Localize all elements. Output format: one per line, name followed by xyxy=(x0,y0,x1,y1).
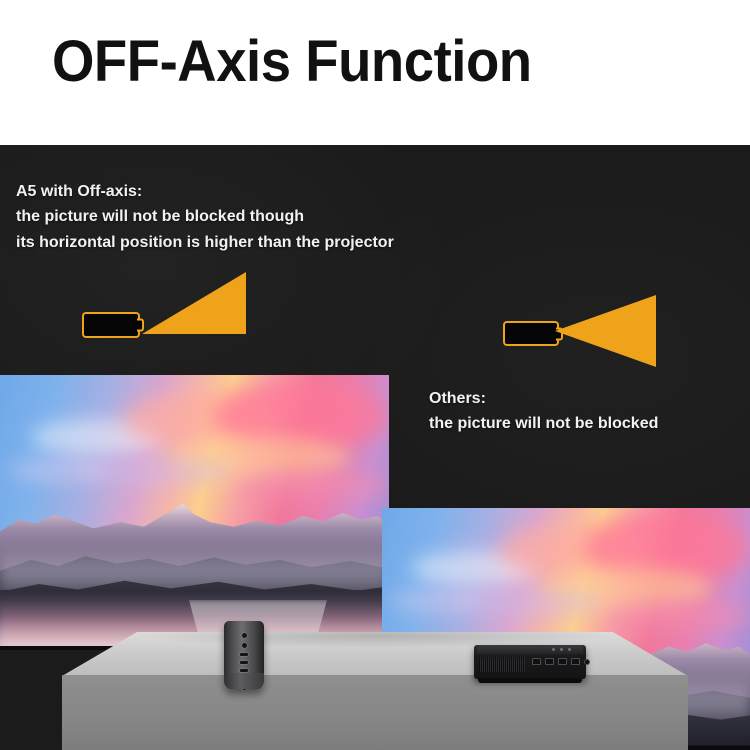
projector-icon xyxy=(82,312,140,338)
standard-beam-diagram xyxy=(500,295,670,367)
off-axis-beam-diagram xyxy=(80,270,255,350)
cylindrical-projector xyxy=(224,621,264,689)
port-icon xyxy=(584,659,590,665)
off-axis-projection-screen xyxy=(0,375,389,650)
light-beam-icon xyxy=(142,272,246,334)
cloud xyxy=(241,469,389,502)
indicator-light-icon xyxy=(568,648,571,651)
port-icon xyxy=(240,669,248,672)
projector-base xyxy=(224,673,264,689)
caption-others-heading: Others: xyxy=(429,386,658,411)
table-front-face xyxy=(62,675,688,750)
table-shadow xyxy=(62,632,688,676)
light-beam-icon xyxy=(555,295,656,367)
projector-port-row xyxy=(532,658,590,665)
landscape-image xyxy=(0,375,389,650)
indicator-light-icon xyxy=(560,648,563,651)
caption-others: Others: the picture will not be blocked xyxy=(429,386,658,437)
projector-icon xyxy=(503,321,559,346)
port-icon xyxy=(558,658,567,665)
port-icon xyxy=(545,658,554,665)
caption-off-axis-heading: A5 with Off-axis: xyxy=(16,179,394,204)
caption-off-axis-line3: its horizontal position is higher than t… xyxy=(16,230,394,255)
box-projector xyxy=(474,645,586,679)
header-band: OFF-Axis Function xyxy=(0,0,750,145)
port-icon xyxy=(532,658,541,665)
projector-feet xyxy=(478,678,582,683)
cloud xyxy=(610,600,750,632)
port-icon xyxy=(240,661,248,664)
projector-top-panel xyxy=(477,645,583,654)
product-feature-image: OFF-Axis Function A5 with Off-axis: the … xyxy=(0,0,750,750)
caption-off-axis: A5 with Off-axis: the picture will not b… xyxy=(16,179,394,255)
caption-off-axis-line2: the picture will not be blocked though xyxy=(16,204,394,229)
page-title: OFF-Axis Function xyxy=(52,28,532,95)
port-icon xyxy=(242,643,247,648)
port-icon xyxy=(240,653,248,656)
caption-others-line2: the picture will not be blocked xyxy=(429,411,658,436)
cloud xyxy=(8,458,109,483)
port-icon xyxy=(242,633,247,638)
projector-vent-grille xyxy=(479,657,525,672)
table-top-surface xyxy=(62,632,688,676)
port-icon xyxy=(571,658,580,665)
indicator-light-icon xyxy=(552,648,555,651)
projector-indicator-lights xyxy=(552,648,571,651)
table xyxy=(0,632,750,750)
